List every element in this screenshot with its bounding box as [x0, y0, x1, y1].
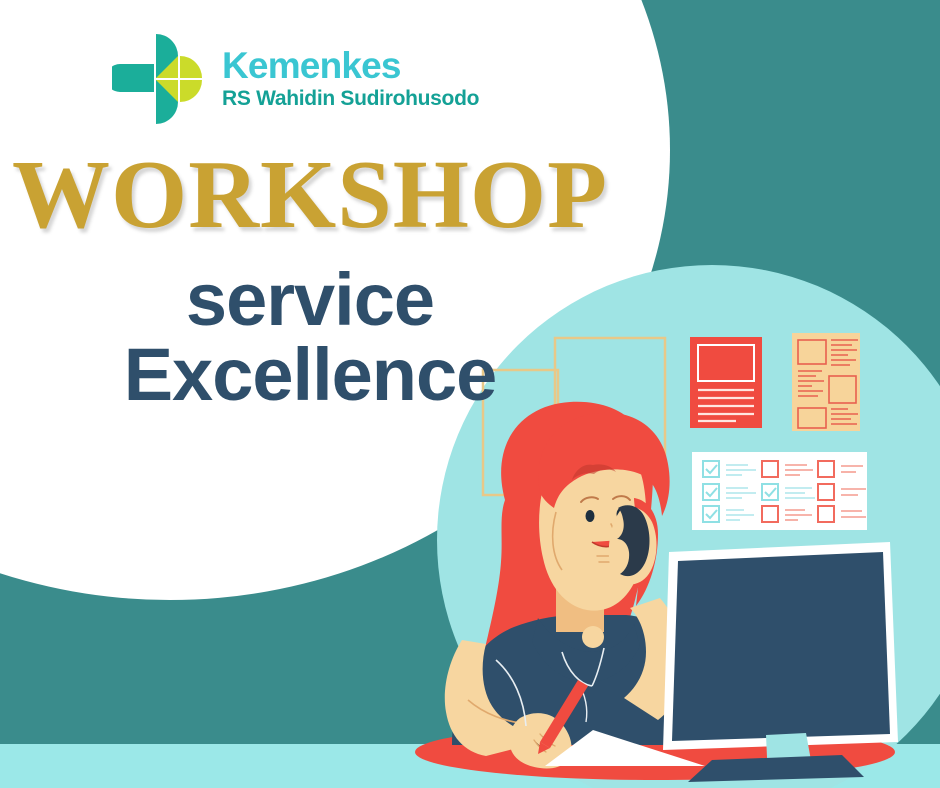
logo-title: Kemenkes — [222, 47, 479, 84]
logo-subtitle: RS Wahidin Sudirohusodo — [222, 88, 479, 109]
kemenkes-logo: Kemenkes RS Wahidin Sudirohusodo — [112, 28, 479, 128]
kemenkes-clover-logo-icon — [112, 28, 208, 128]
poster-canvas: Kemenkes RS Wahidin Sudirohusodo WORKSHO… — [0, 0, 940, 788]
headline-block: WORKSHOP service Excellence — [0, 146, 620, 413]
subtitle-line-2: Excellence — [0, 337, 620, 412]
logo-text-block: Kemenkes RS Wahidin Sudirohusodo — [222, 47, 479, 109]
page-title: WORKSHOP — [0, 146, 620, 244]
subtitle-line-1: service — [0, 262, 620, 337]
bottom-accent-band — [0, 744, 940, 788]
